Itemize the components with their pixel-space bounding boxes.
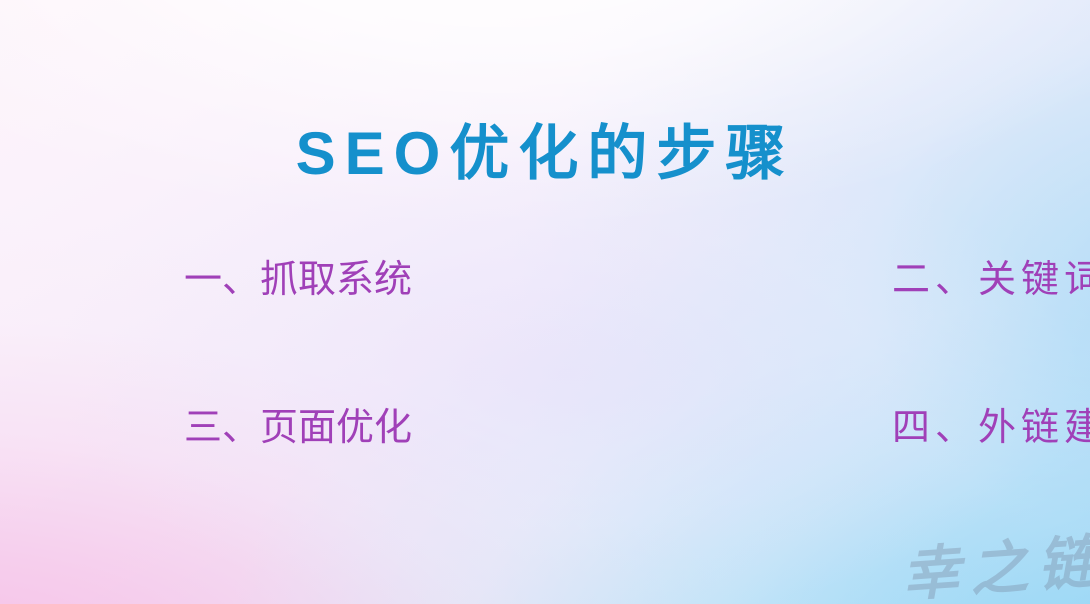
step-item-1: 一、抓取系统 (150, 258, 412, 406)
slide-content: SEO优化的步骤 一、抓取系统 二、关键词调研 三、页面优化 四、外链建设 (0, 0, 1090, 604)
presentation-slide: SEO优化的步骤 一、抓取系统 二、关键词调研 三、页面优化 四、外链建设 幸之… (0, 0, 1090, 604)
steps-list: 一、抓取系统 二、关键词调研 三、页面优化 四、外链建设 (150, 258, 950, 554)
step-item-3: 三、页面优化 (150, 406, 412, 554)
slide-title: SEO优化的步骤 (0, 122, 1090, 187)
step-item-2: 二、关键词调研 (442, 258, 1090, 406)
brand-watermark: 幸之链 (899, 514, 1090, 604)
